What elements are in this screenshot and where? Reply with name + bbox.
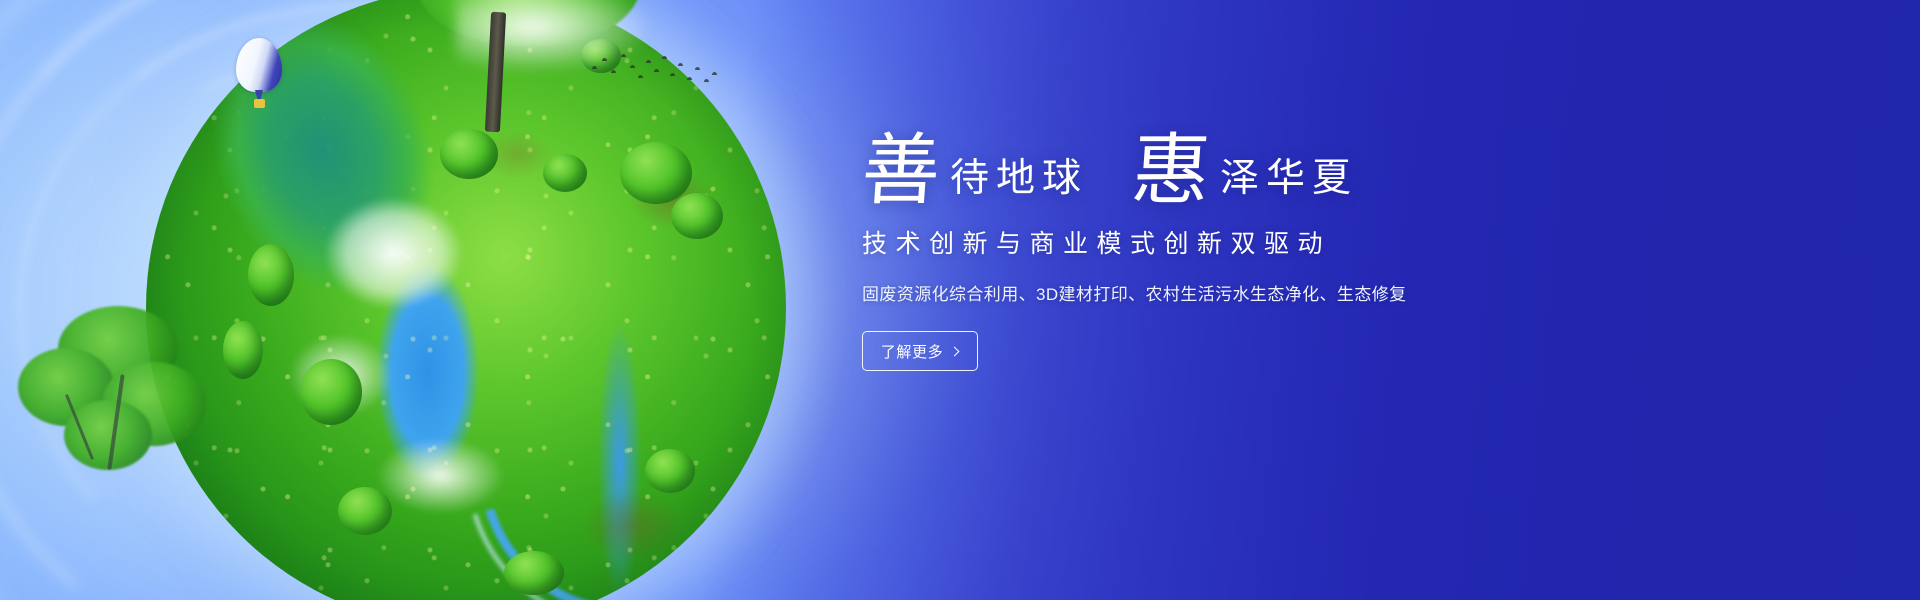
headline-brush-char-1: 善	[859, 132, 942, 210]
bird-flock	[588, 48, 718, 92]
hero-content: 善 待地球 惠 泽华夏 技术创新与商业模式创新双驱动 固废资源化综合利用、3D建…	[862, 126, 1482, 371]
headline-brush-char-2: 惠	[1129, 132, 1212, 210]
balloon-envelope	[236, 38, 282, 92]
foreground-tree	[18, 296, 228, 486]
headline-rest-1: 待地球	[950, 159, 1088, 198]
hot-air-balloon-icon	[236, 38, 282, 116]
learn-more-button[interactable]: 了解更多	[862, 331, 978, 371]
headline-group-2: 惠 泽华夏	[1132, 126, 1358, 204]
balloon-neck	[255, 90, 263, 99]
headline-group-1: 善 待地球	[862, 126, 1088, 204]
learn-more-label: 了解更多	[881, 341, 943, 362]
headline: 善 待地球 惠 泽华夏	[862, 126, 1482, 204]
description: 固废资源化综合利用、3D建材打印、农村生活污水生态净化、生态修复	[862, 280, 1482, 305]
hero-banner: 善 待地球 惠 泽华夏 技术创新与商业模式创新双驱动 固废资源化综合利用、3D建…	[0, 0, 1920, 600]
balloon-basket	[254, 99, 265, 108]
chevron-right-icon	[950, 346, 960, 356]
subtitle: 技术创新与商业模式创新双驱动	[862, 224, 1482, 260]
headline-rest-2: 泽华夏	[1220, 159, 1358, 198]
